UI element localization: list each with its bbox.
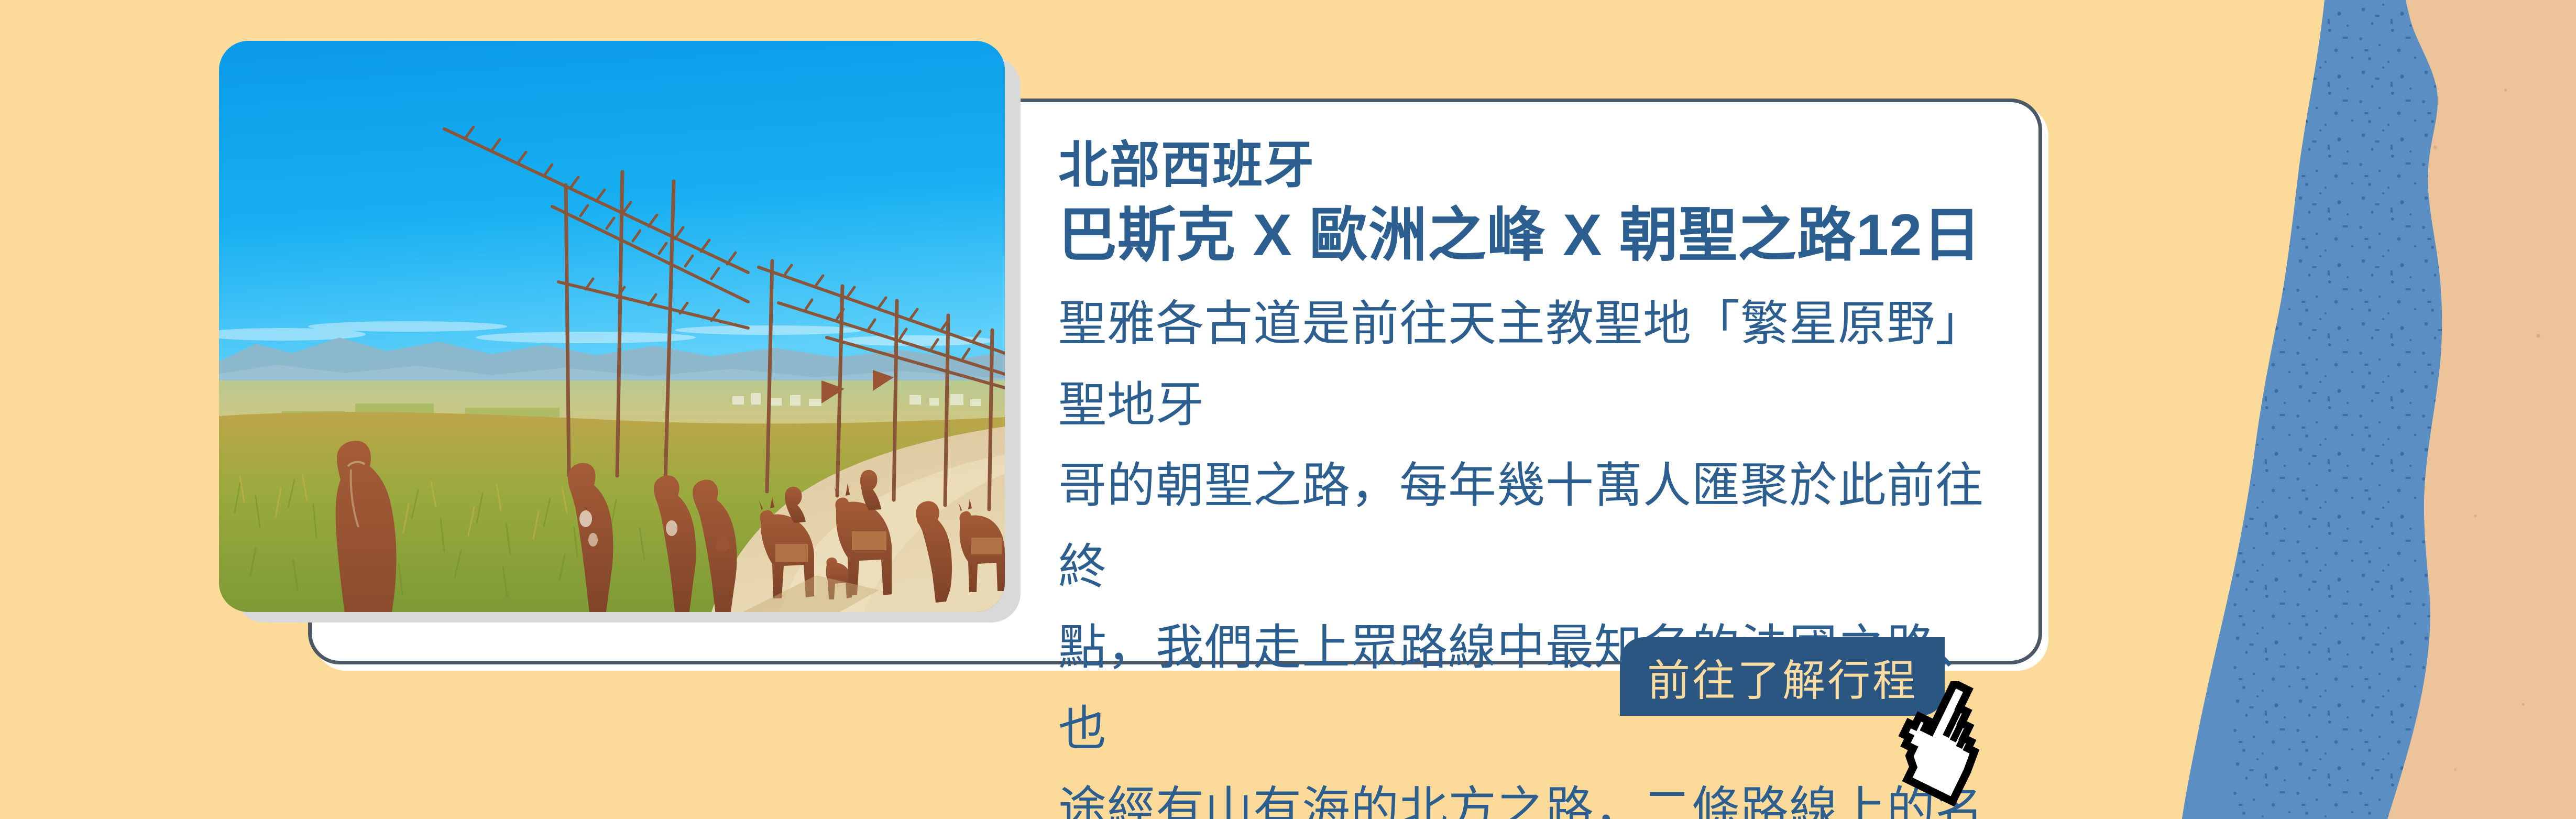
blue-wave-band xyxy=(2167,0,2576,819)
promo-eyebrow: 北部西班牙 xyxy=(1058,134,1996,198)
promo-text-block: 北部西班牙 巴斯克 X 歐洲之峰 X 朝聖之路12日 聖雅各古道是前往天主教聖地… xyxy=(1058,134,1996,819)
promo-banner: 北部西班牙 巴斯克 X 歐洲之峰 X 朝聖之路12日 聖雅各古道是前往天主教聖地… xyxy=(0,0,2576,819)
promo-body: 聖雅各古道是前往天主教聖地「繁星原野」聖地牙 哥的朝聖之路，每年幾十萬人匯聚於此… xyxy=(1058,283,1996,819)
body-line: 聖雅各古道是前往天主教聖地「繁星原野」聖地牙 xyxy=(1058,283,1996,445)
trip-photo xyxy=(219,41,1005,612)
promo-headline: 巴斯克 X 歐洲之峰 X 朝聖之路12日 xyxy=(1058,198,1996,272)
decorative-right-panel xyxy=(2167,0,2576,819)
body-line: 哥的朝聖之路，每年幾十萬人匯聚於此前往終 xyxy=(1058,445,1996,607)
body-line: 途經有山有海的北方之路，二條路線上的名勝 xyxy=(1058,769,1996,819)
view-itinerary-button-label: 前往了解行程 xyxy=(1647,646,1917,708)
view-itinerary-button[interactable]: 前往了解行程 xyxy=(1620,637,1945,716)
